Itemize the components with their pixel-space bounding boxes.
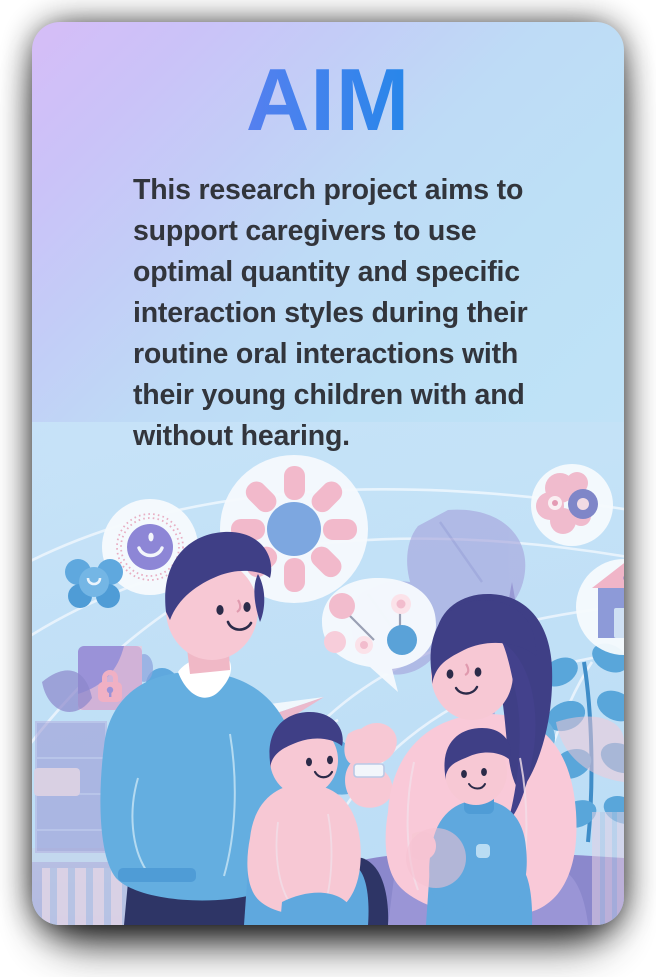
- blossom-circle-icon: [531, 464, 613, 546]
- squiggle-icon: [527, 649, 535, 653]
- family-interaction-illustration: [32, 22, 624, 925]
- dot-icon: [524, 654, 534, 664]
- screenshot-canvas: AIM This research project aims to suppor…: [0, 0, 656, 977]
- right-panel: [592, 812, 624, 925]
- daisy-circle-icon: [220, 455, 368, 603]
- father-eye: [216, 605, 223, 615]
- sun-face-circle-icon: [102, 499, 198, 595]
- left-bricks: [34, 722, 106, 852]
- wristwatch-icon: [354, 764, 384, 777]
- father-hand: [344, 723, 396, 808]
- padlock-tile-icon: [78, 646, 142, 710]
- page-title: AIM: [32, 56, 624, 144]
- figure-child-left: [244, 712, 369, 925]
- small-orbit-icon: [301, 720, 338, 746]
- figure-father: [100, 532, 396, 925]
- molecule-speech-bubble-icon: [322, 578, 436, 692]
- blue-flowers-icon: [65, 559, 224, 724]
- house-circle-icon: [576, 559, 624, 655]
- aim-description: This research project aims to support ca…: [133, 170, 581, 457]
- lavender-leaves-icon: [351, 510, 525, 675]
- paper-plane-icon: [262, 697, 324, 722]
- 背景-shelf: [32, 848, 150, 925]
- father-eye: [243, 602, 250, 612]
- right-pink-blob: [556, 716, 624, 782]
- aim-info-card: AIM This research project aims to suppor…: [32, 22, 624, 925]
- ground: [32, 862, 624, 925]
- figure-child-right: [412, 728, 532, 925]
- arc-lines-icon: [32, 489, 624, 925]
- striped-panel: [42, 868, 138, 925]
- left-leaf-icon: [42, 670, 92, 712]
- blue-fern-icon: [525, 638, 624, 842]
- tall-plant-icon: [478, 582, 521, 822]
- figure-mother: [386, 594, 588, 925]
- father-smile: [228, 622, 251, 630]
